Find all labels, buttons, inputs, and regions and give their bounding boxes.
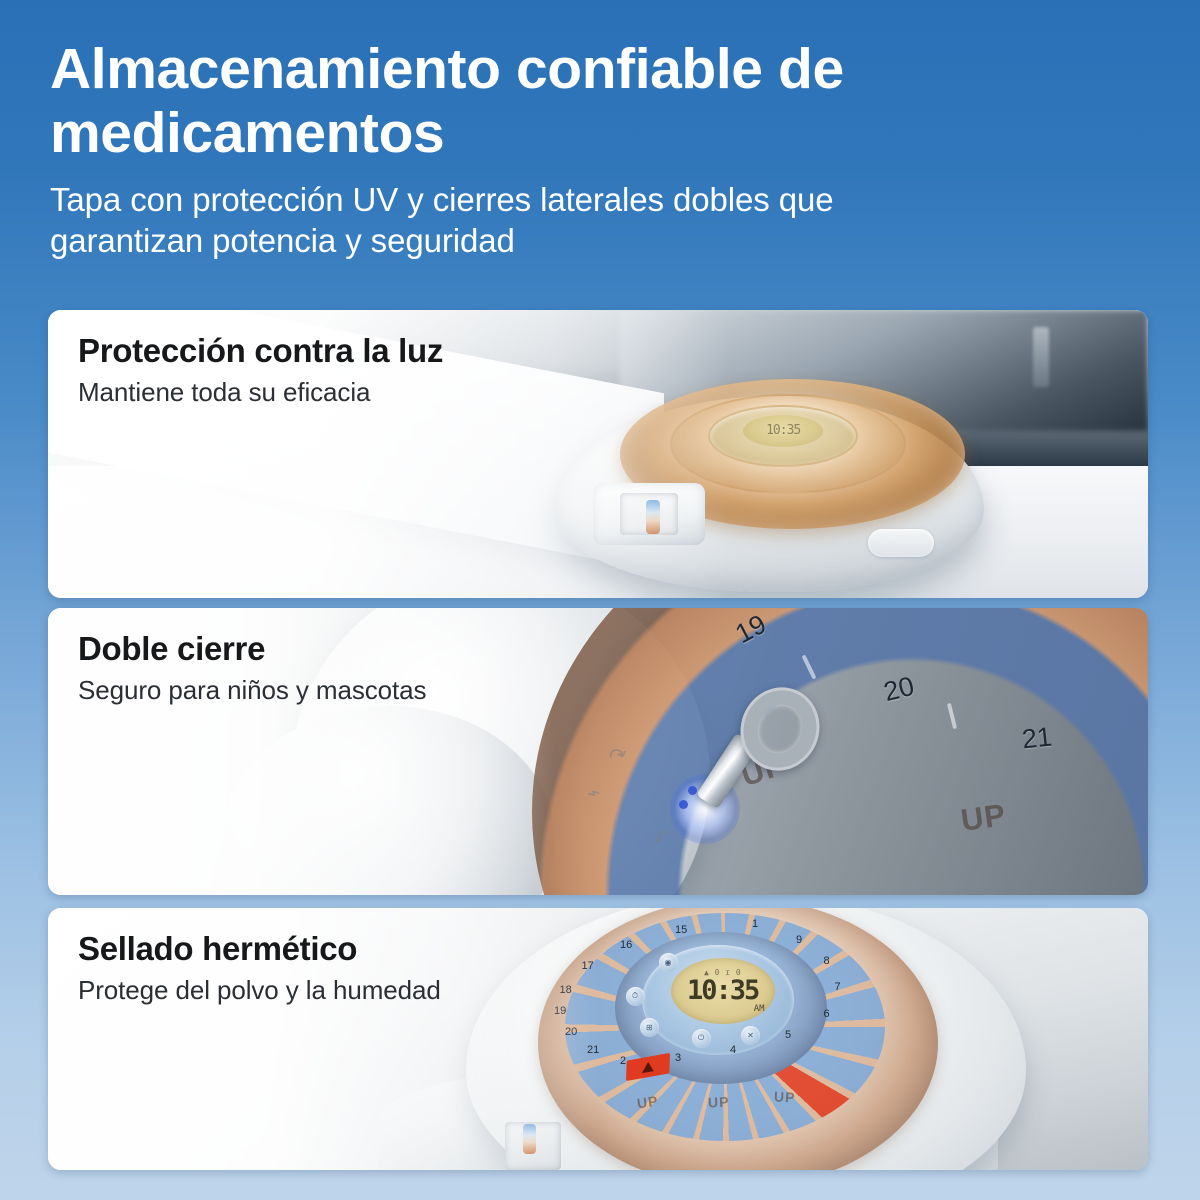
dial-number-08: 8: [824, 955, 830, 967]
dial-number-16: 16: [620, 939, 632, 951]
compartment-label-up-2: UP: [708, 1093, 730, 1110]
dial-number-07: 7: [835, 981, 841, 993]
page-title: Almacenamiento confiable de medicamentos: [50, 38, 1130, 166]
compartment-label-up-3: UP: [774, 1088, 796, 1105]
header: Almacenamiento confiable de medicamentos…: [50, 38, 1130, 261]
lcd-indicators: ▲ 0 ɪ 0: [704, 968, 741, 977]
page-subtitle: Tapa con protección UV y cierres lateral…: [50, 180, 1130, 262]
clock-button[interactable]: ⏱: [626, 987, 645, 1006]
mode-button[interactable]: ⊞: [640, 1018, 659, 1037]
card-subtitle: Mantiene toda su eficacia: [78, 377, 443, 408]
card-subtitle: Seguro para niños y mascotas: [78, 675, 426, 706]
feature-card-double-lock: 19 20 21 UP UP ↷ ⌁ ↶ Doble cierre: [48, 608, 1148, 895]
card-text-block: Protección contra la luz Mantiene toda s…: [78, 332, 443, 408]
power-button[interactable]: ⏻: [692, 1029, 711, 1048]
card-title: Protección contra la luz: [78, 332, 443, 370]
card-title: Sellado hermético: [78, 930, 441, 968]
dial-number-15: 15: [675, 924, 687, 936]
card-text-block: Doble cierre Seguro para niños y mascota…: [78, 630, 426, 706]
dial-number-03: 3: [675, 1052, 681, 1064]
infographic-page: Almacenamiento confiable de medicamentos…: [0, 0, 1200, 1200]
card-title: Doble cierre: [78, 630, 426, 668]
card-subtitle: Protege del polvo y la humedad: [78, 975, 441, 1006]
dial-number-02: 2: [620, 1055, 626, 1067]
dial-number-09: 9: [796, 934, 802, 946]
dial-number-05: 5: [785, 1029, 791, 1041]
dial-number-06: 6: [824, 1008, 830, 1020]
lcd-ampm: AM: [754, 1004, 765, 1014]
side-button: [868, 529, 934, 557]
dial-number-01: 1: [752, 918, 758, 930]
furniture-leg: [1033, 327, 1049, 387]
lcd-display: 10:35: [743, 415, 823, 447]
alarm-button[interactable]: ◉: [659, 953, 678, 972]
lcd-time-text: 10:35: [766, 423, 800, 438]
dial-number-04: 4: [730, 1044, 736, 1056]
card-text-block: Sellado hermético Protege del polvo y la…: [78, 930, 441, 1006]
dose-arrow-icon: [641, 1061, 653, 1073]
lcd-time: 10:35: [687, 977, 758, 1004]
feature-card-airtight-seal: ▲ 0 ɪ 0 10:35 AM ◉ ⏱ ⊞ ⏻ ✕ 1 9 8 7 6 5 4…: [48, 908, 1148, 1170]
compartment-number-21: 21: [1020, 721, 1053, 755]
lcd-display: ▲ 0 ɪ 0 10:35 AM: [671, 958, 775, 1024]
feature-card-list: 10:35 Protección contra la luz Mantiene …: [48, 310, 1148, 1170]
compartment-label-up-2: UP: [959, 797, 1009, 839]
set-button[interactable]: ✕: [741, 1026, 760, 1045]
feature-card-light-protection: 10:35 Protección contra la luz Mantiene …: [48, 310, 1148, 598]
compartment-label-up-1: UP: [635, 1093, 658, 1112]
